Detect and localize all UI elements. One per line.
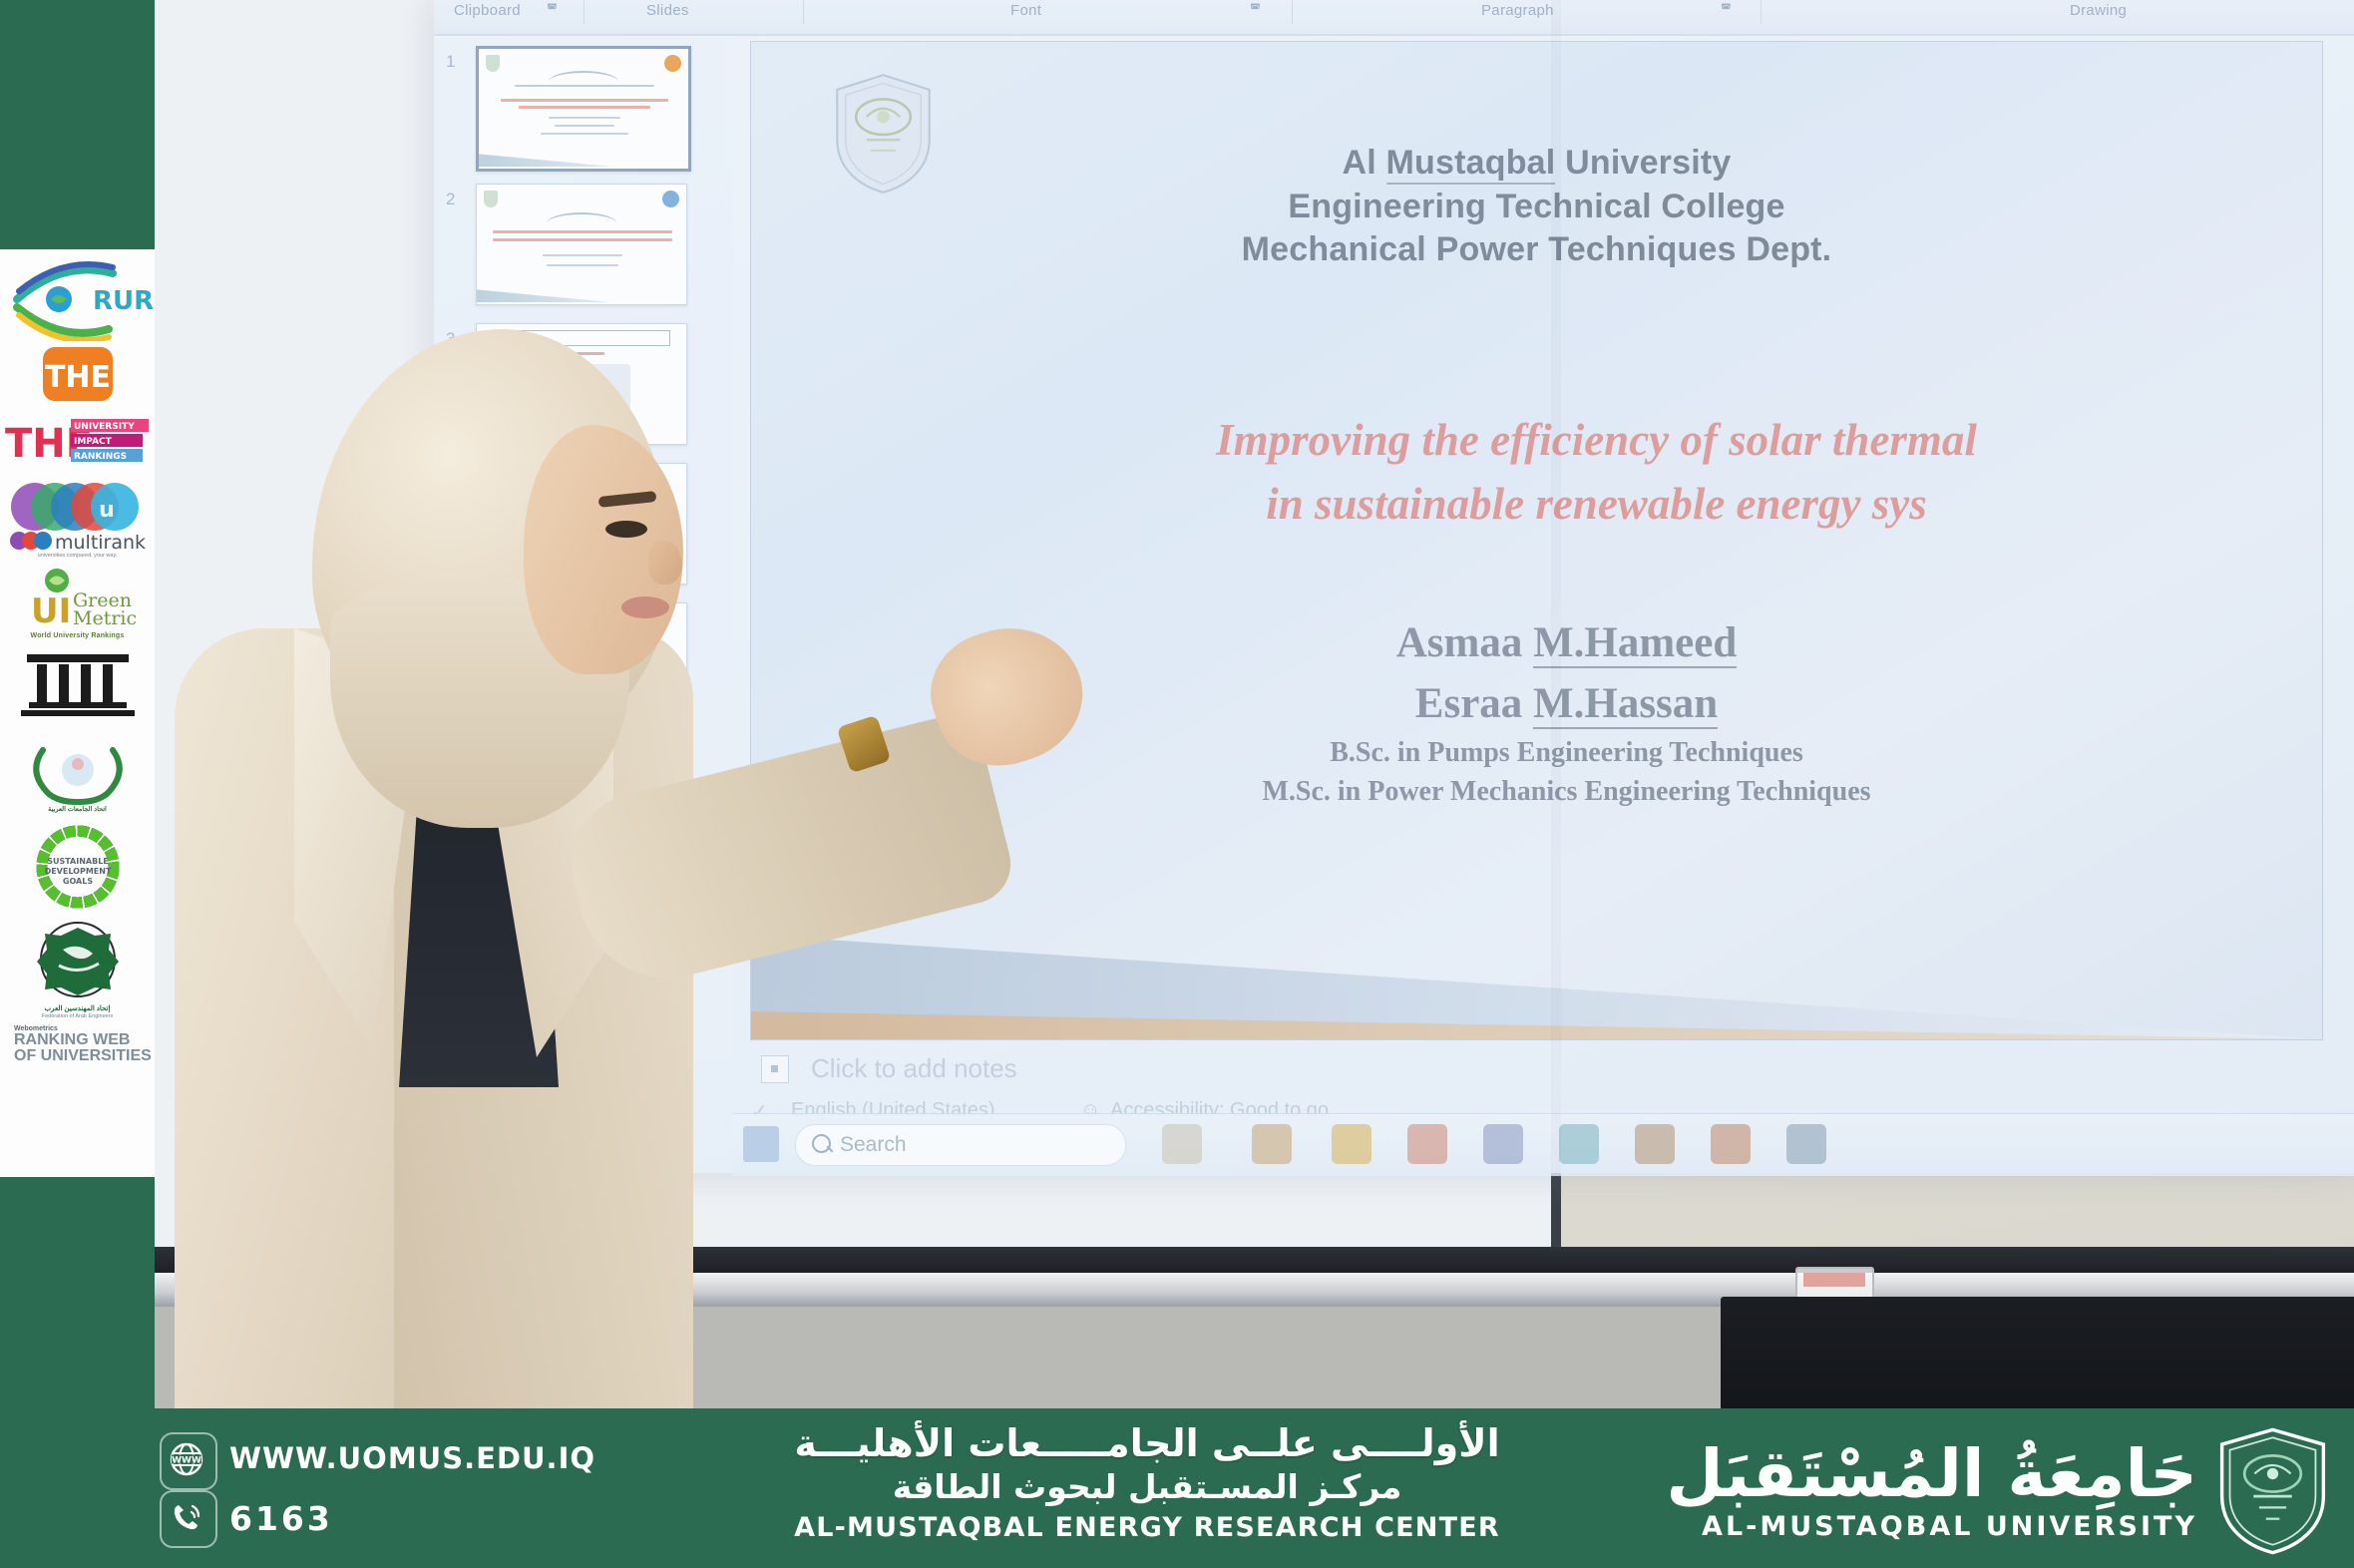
author-1-last: M.Hameed [1533, 619, 1737, 668]
svg-text:GOALS: GOALS [62, 877, 92, 886]
the-rankings-logo: THE [0, 345, 155, 403]
file-explorer-icon[interactable] [1252, 1124, 1292, 1164]
federation-arab-engineers-logo: إتحاد المهندسين العرب Federation of Arab… [0, 920, 155, 1019]
slide-header-line1: Al Mustaqbal University [751, 142, 2322, 186]
rur-rankings-logo: RUR [0, 255, 155, 341]
footer-bar: WWW WWW.UOMUS.EDU.IQ 6163 الأولــــى علـ… [0, 1408, 2354, 1568]
svg-text:SUSTAINABLE: SUSTAINABLE [47, 857, 109, 866]
svg-text:RUR: RUR [93, 286, 153, 316]
svg-text:u: u [99, 498, 115, 523]
thumbnail-number: 2 [446, 190, 455, 209]
unesco-pillars-logo [0, 648, 155, 722]
slide-thumbnail-1[interactable] [476, 46, 691, 172]
footer-english-line: AL-MUSTAQBAL ENERGY RESEARCH CENTER [738, 1508, 1556, 1549]
folder-icon[interactable] [1332, 1124, 1372, 1164]
slide-header-line3: Mechanical Power Techniques Dept. [751, 228, 2322, 272]
author-2-first: Esraa [1415, 680, 1533, 727]
thumbnail-number: 1 [446, 52, 455, 72]
globe-www-icon: WWW [160, 1432, 217, 1490]
svg-text:IMPACT: IMPACT [74, 437, 113, 447]
presentation-photo: Clipboard ◚ Slides Font ◚ Paragraph ◚ Dr… [155, 0, 2354, 1408]
ribbon-group-drawing[interactable]: Drawing [2070, 2, 2127, 19]
ribbon-launcher-clipboard[interactable]: ◚ [547, 2, 558, 15]
federation-arab-engineers-caption-ar: إتحاد المهندسين العرب [0, 1005, 155, 1013]
crest-thumb-icon [486, 55, 500, 72]
powerpoint-icon[interactable] [1711, 1124, 1751, 1164]
word-icon[interactable] [1635, 1124, 1675, 1164]
svg-text:WWW: WWW [172, 1456, 201, 1466]
arab-universities-caption: اتحاد الجامعات العربية [0, 806, 155, 813]
ui-greenmetric-logo: UI Green Metric World University Ranking… [0, 567, 155, 640]
phone-icon [160, 1490, 217, 1548]
footer-arabic-line2: مركـز المسـتقبل لبحوث الطاقة [738, 1466, 1556, 1507]
ribbon-group-font[interactable]: Font [1010, 2, 1041, 19]
badge-thumb-icon [662, 191, 679, 207]
sdg-sustainable-development-goals-logo: SUSTAINABLE DEVELOPMENT GOALS [0, 822, 155, 912]
slide-thumbnail-2[interactable] [476, 184, 687, 305]
ribbon-group-slides[interactable]: Slides [646, 2, 689, 19]
ribbon-launcher-font[interactable]: ◚ [1250, 2, 1261, 15]
federation-arab-engineers-caption-en: Federation of Arab Engineers [0, 1013, 155, 1019]
ui-greenmetric-tagline: World University Rankings [0, 632, 155, 640]
ribbon-group-paragraph[interactable]: Paragraph [1481, 2, 1554, 19]
widgets-icon[interactable] [1162, 1124, 1202, 1164]
author-2-last: M.Hassan [1533, 680, 1718, 729]
presenter-person [155, 329, 1042, 1408]
svg-text:multirank: multirank [55, 532, 146, 554]
svg-text:RANKINGS: RANKINGS [74, 452, 127, 462]
teams-icon[interactable] [1483, 1124, 1523, 1164]
u-multirank-logo: u multirank universities compared. your … [0, 477, 155, 559]
svg-text:THE: THE [44, 360, 110, 395]
ranking-web-label: RANKING WEB [0, 1032, 155, 1048]
brand-arabic-name: جَامِعَةُ المُسْتَقبَل [1666, 1441, 2197, 1507]
university-shield-icon [2215, 1426, 2330, 1556]
slide-header-suffix: University [1555, 144, 1731, 182]
slide-header-prefix: Al [1342, 144, 1385, 182]
slide-header-line2: Engineering Technical College [751, 186, 2322, 229]
footer-phone-text: 6163 [229, 1499, 333, 1538]
svg-text:UI: UI [31, 591, 71, 631]
footer-arabic-line1: الأولــــى علــى الجامـــــعات الأهليـــ… [738, 1420, 1556, 1466]
webometrics-ranking-web-logo: Webometrics RANKING WEB OF UNIVERSITIES [0, 1025, 155, 1065]
telegram-icon[interactable] [1786, 1124, 1826, 1164]
footer-website-text: WWW.UOMUS.EDU.IQ [229, 1441, 595, 1475]
slide-header: Al Mustaqbal University Engineering Tech… [751, 142, 2322, 272]
projector-screen-roll [1721, 1297, 2354, 1408]
rankings-sidebar: RUR THE THE UNIVERSITY IMPACT RANKINGS [0, 249, 155, 1177]
slide-header-mustaqbal: Mustaqbal [1386, 144, 1556, 185]
svg-text:UNIVERSITY: UNIVERSITY [74, 422, 135, 432]
ribbon-group-clipboard[interactable]: Clipboard [454, 2, 521, 19]
ribbon-launcher-paragraph[interactable]: ◚ [1721, 2, 1732, 15]
the-impact-rankings-logo: THE UNIVERSITY IMPACT RANKINGS [0, 415, 155, 467]
author-1-first: Asmaa [1396, 619, 1533, 666]
edge-icon[interactable] [1559, 1124, 1599, 1164]
chrome-icon[interactable] [1407, 1124, 1447, 1164]
brand-english-name: AL-MUSTAQBAL UNIVERSITY [1666, 1511, 2197, 1542]
crest-thumb-icon [484, 191, 498, 207]
svg-text:DEVELOPMENT: DEVELOPMENT [44, 867, 111, 876]
ribbon: Clipboard ◚ Slides Font ◚ Paragraph ◚ Dr… [434, 0, 2354, 36]
footer-center-block: الأولــــى علــى الجامـــــعات الأهليـــ… [738, 1420, 1556, 1548]
svg-text:Metric: Metric [73, 607, 137, 629]
footer-brand-block: جَامِعَةُ المُسْتَقبَل AL-MUSTAQBAL UNIV… [1666, 1426, 2330, 1556]
of-universities-label: OF UNIVERSITIES [0, 1048, 155, 1064]
screenshot-root: Clipboard ◚ Slides Font ◚ Paragraph ◚ Dr… [0, 0, 2354, 1568]
badge-thumb-icon [664, 55, 681, 72]
arab-universities-union-logo: اتحاد الجامعات العربية [0, 734, 155, 813]
